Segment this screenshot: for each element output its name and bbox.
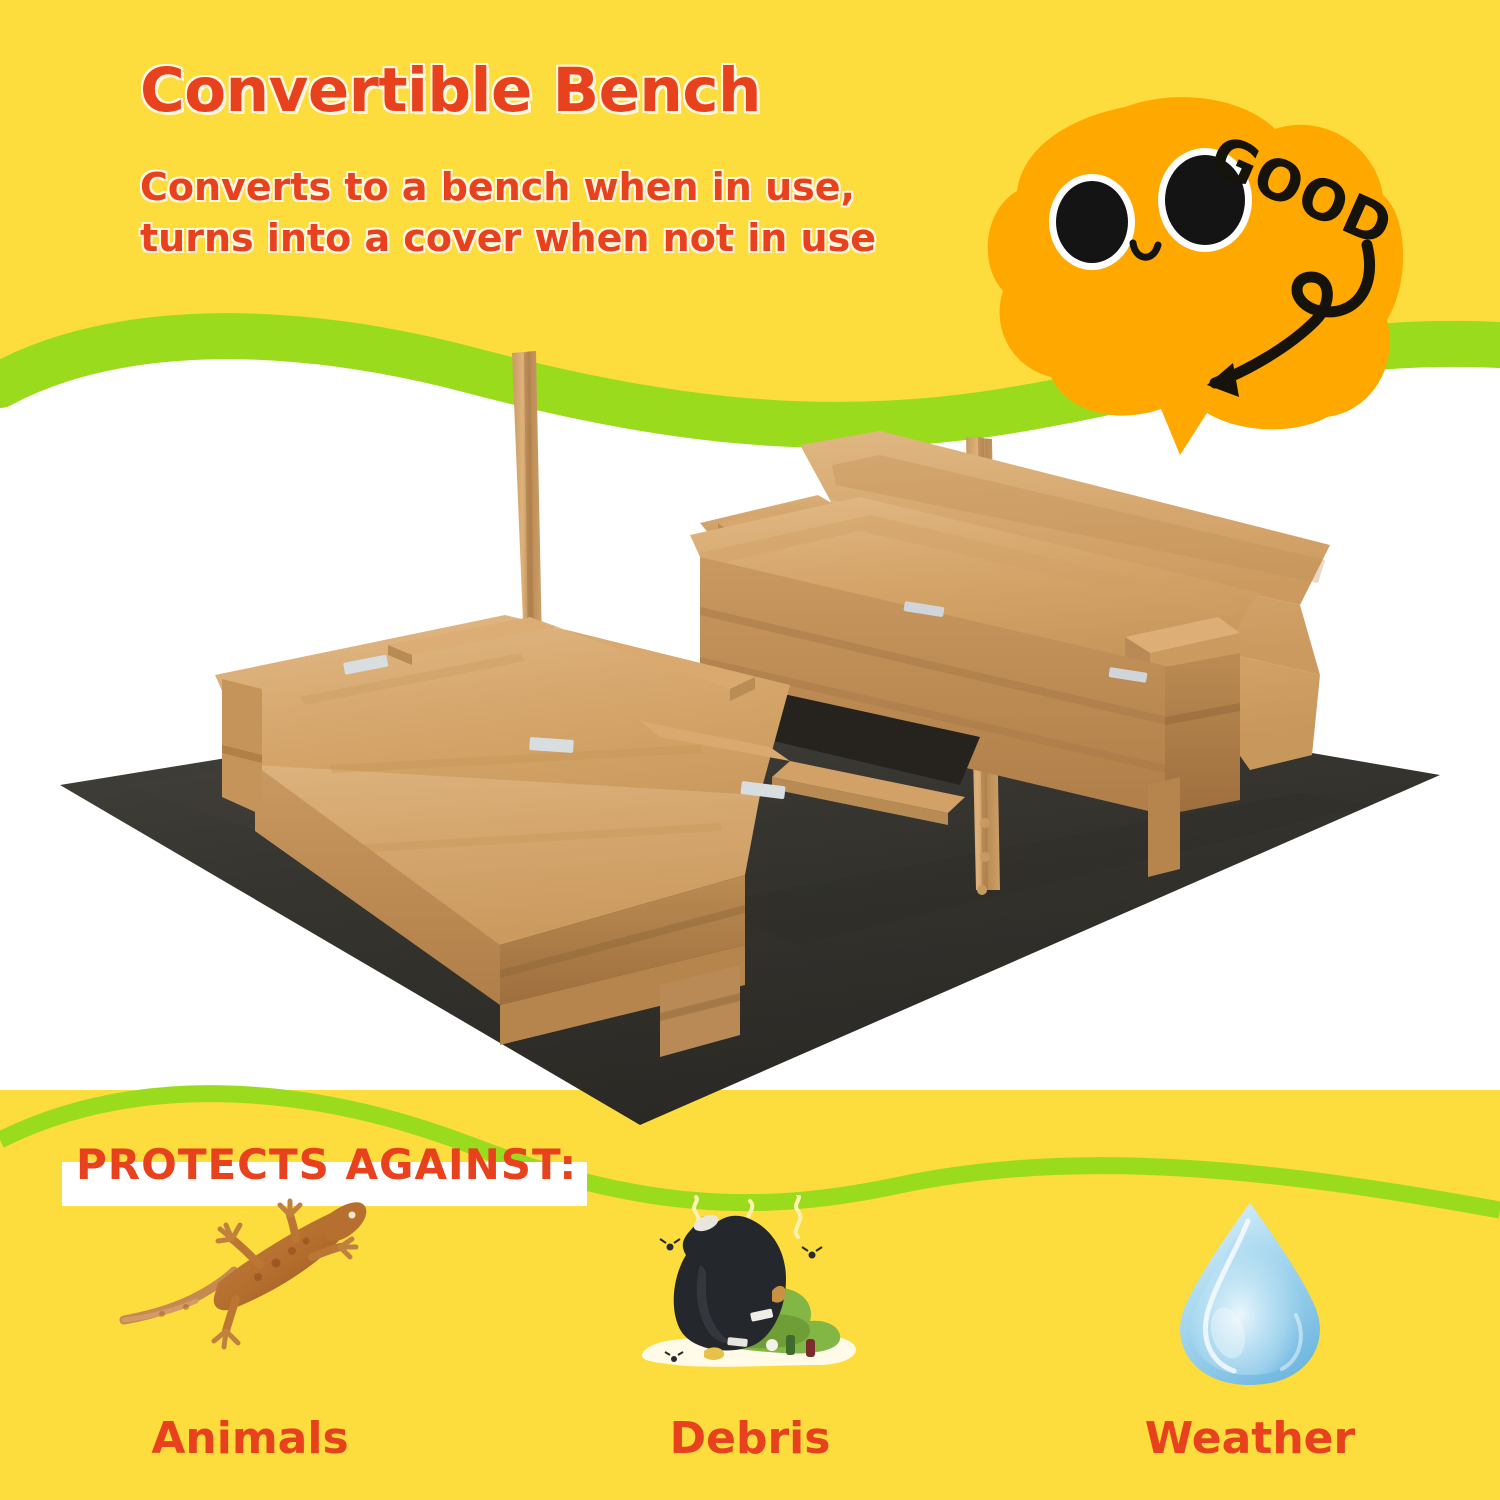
protects-against-heading: PROTECTS AGAINST: [62,1140,591,1189]
product-photo [0,345,1500,1135]
lizard-icon [100,1195,400,1405]
feature-debris: Debris [500,1195,1000,1464]
feature-label-weather: Weather [1145,1413,1355,1464]
trash-bag-art [600,1195,900,1405]
convertible-sandbox-illustration [0,345,1500,1135]
water-droplet-icon [1100,1195,1400,1405]
protects-against-heading-wrap: PROTECTS AGAINST: [62,1140,591,1189]
lizard-art [100,1195,400,1405]
protects-feature-row: Animals [0,1195,1500,1495]
trash-bag-icon [600,1195,900,1405]
feature-animals: Animals [0,1195,500,1464]
feature-label-debris: Debris [670,1413,831,1464]
water-droplet-art [1100,1195,1400,1405]
infographic-canvas: Convertible Bench Converts to a bench wh… [0,0,1500,1500]
page-subtitle: Converts to a bench when in use, turns i… [140,162,876,263]
feature-label-animals: Animals [151,1413,348,1464]
corner-post-right [1148,777,1180,877]
page-title: Convertible Bench [140,55,761,126]
feature-weather: Weather [1000,1195,1500,1464]
